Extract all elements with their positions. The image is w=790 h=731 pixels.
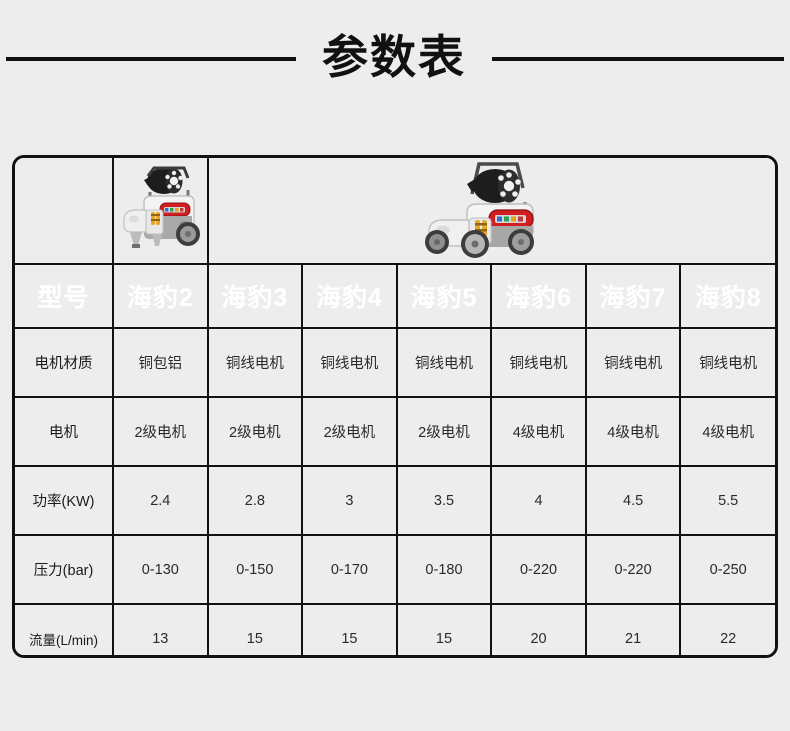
page-title: 参数表 <box>296 34 492 80</box>
cell-motor-4: 2级电机 <box>397 397 492 466</box>
cell-pressure-7: 0-250 <box>680 535 775 604</box>
cell-pressure-5: 0-220 <box>491 535 586 604</box>
cell-motor-3: 2级电机 <box>302 397 397 466</box>
pressure-washer-2wheel-icon <box>118 164 202 252</box>
cell-power-7: 5.5 <box>680 466 775 535</box>
cell-motor-2: 2级电机 <box>208 397 303 466</box>
table-row: 功率(KW) 2.4 2.8 3 3.5 4 4.5 5.5 <box>15 466 775 535</box>
cell-pressure-3: 0-170 <box>302 535 397 604</box>
cell-pressure-4: 0-180 <box>397 535 492 604</box>
cell-motor-6: 4级电机 <box>586 397 681 466</box>
cell-motor-7: 4级电机 <box>680 397 775 466</box>
title-rule-left <box>6 57 296 61</box>
spec-table-container: 型号 海豹2 海豹3 海豹4 海豹5 海豹6 海豹7 海豹8 电机材质 铜包铝 … <box>12 155 778 658</box>
row-label-motor-material: 电机材质 <box>15 328 113 397</box>
cell-pressure-1: 0-130 <box>113 535 208 604</box>
cell-motor-material-5: 铜线电机 <box>491 328 586 397</box>
cell-power-3: 3 <box>302 466 397 535</box>
cell-motor-material-2: 铜线电机 <box>208 328 303 397</box>
table-row: 电机 2级电机 2级电机 2级电机 2级电机 4级电机 4级电机 4级电机 <box>15 397 775 466</box>
table-row-images <box>15 158 775 264</box>
cell-flow-7: 22 <box>680 604 775 658</box>
cell-flow-1: 13 <box>113 604 208 658</box>
image-row-empty-label <box>15 158 113 264</box>
cell-motor-material-4: 铜线电机 <box>397 328 492 397</box>
title-rule-right <box>492 57 784 61</box>
pressure-washer-4wheel-icon <box>417 158 567 258</box>
header-model-6[interactable]: 海豹7 <box>586 264 681 328</box>
header-model-5[interactable]: 海豹6 <box>491 264 586 328</box>
cell-pressure-2: 0-150 <box>208 535 303 604</box>
header-model-3[interactable]: 海豹4 <box>302 264 397 328</box>
row-label-flow: 流量(L/min) <box>15 604 113 658</box>
cell-motor-material-7: 铜线电机 <box>680 328 775 397</box>
cell-flow-3: 15 <box>302 604 397 658</box>
cell-motor-material-3: 铜线电机 <box>302 328 397 397</box>
header-model-1[interactable]: 海豹2 <box>113 264 208 328</box>
table-row: 电机材质 铜包铝 铜线电机 铜线电机 铜线电机 铜线电机 铜线电机 铜线电机 <box>15 328 775 397</box>
cell-motor-material-1: 铜包铝 <box>113 328 208 397</box>
cell-power-5: 4 <box>491 466 586 535</box>
header-model-2[interactable]: 海豹3 <box>208 264 303 328</box>
table-row: 压力(bar) 0-130 0-150 0-170 0-180 0-220 0-… <box>15 535 775 604</box>
cell-power-1: 2.4 <box>113 466 208 535</box>
cell-flow-2: 15 <box>208 604 303 658</box>
cell-flow-4: 15 <box>397 604 492 658</box>
row-label-power: 功率(KW) <box>15 466 113 535</box>
table-row: 流量(L/min) 13 15 15 15 20 21 22 <box>15 604 775 658</box>
row-label-pressure: 压力(bar) <box>15 535 113 604</box>
cell-pressure-6: 0-220 <box>586 535 681 604</box>
cell-power-2: 2.8 <box>208 466 303 535</box>
row-label-motor: 电机 <box>15 397 113 466</box>
cell-motor-material-6: 铜线电机 <box>586 328 681 397</box>
cell-power-6: 4.5 <box>586 466 681 535</box>
page-title-band: 参数表 <box>0 0 790 118</box>
header-model-4[interactable]: 海豹5 <box>397 264 492 328</box>
table-header-row: 型号 海豹2 海豹3 海豹4 海豹5 海豹6 海豹7 海豹8 <box>15 264 775 328</box>
cell-motor-5: 4级电机 <box>491 397 586 466</box>
spec-table: 型号 海豹2 海豹3 海豹4 海豹5 海豹6 海豹7 海豹8 电机材质 铜包铝 … <box>15 158 775 658</box>
header-model-7[interactable]: 海豹8 <box>680 264 775 328</box>
cell-motor-1: 2级电机 <box>113 397 208 466</box>
cell-flow-6: 21 <box>586 604 681 658</box>
product-image-small-cell <box>113 158 208 264</box>
header-label-model: 型号 <box>15 264 113 328</box>
cell-flow-5: 20 <box>491 604 586 658</box>
cell-power-4: 3.5 <box>397 466 492 535</box>
product-image-large-cell <box>208 158 775 264</box>
